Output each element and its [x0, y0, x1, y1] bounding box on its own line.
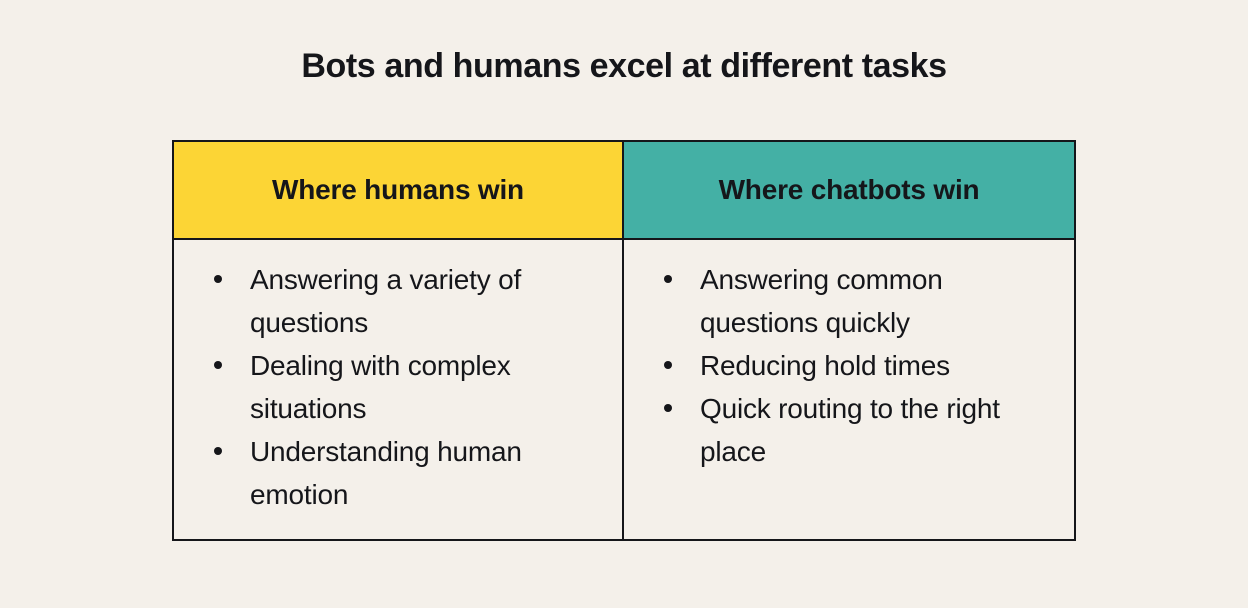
bullet-dot-icon — [214, 361, 222, 369]
list-item: Reducing hold times — [662, 344, 1058, 387]
list-item-label: Answering common questions quickly — [700, 264, 943, 338]
bullet-dot-icon — [664, 404, 672, 412]
column-header-chatbots: Where chatbots win — [624, 142, 1074, 238]
list-item-label: Dealing with complex situations — [250, 350, 511, 424]
bullet-dot-icon — [214, 275, 222, 283]
list-item: Understanding human emotion — [212, 430, 606, 516]
list-item: Dealing with complex situations — [212, 344, 606, 430]
list-item: Answering a variety of questions — [212, 258, 606, 344]
list-item-label: Answering a variety of questions — [250, 264, 521, 338]
column-body-humans: Answering a variety of questions Dealing… — [174, 240, 624, 539]
list-item: Answering common questions quickly — [662, 258, 1058, 344]
list-item-label: Quick routing to the right place — [700, 393, 1000, 467]
list-item: Quick routing to the right place — [662, 387, 1058, 473]
chatbots-bullet-list: Answering common questions quickly Reduc… — [662, 258, 1058, 473]
bullet-dot-icon — [214, 447, 222, 455]
column-header-chatbots-label: Where chatbots win — [719, 174, 980, 206]
infographic-page: Bots and humans excel at different tasks… — [0, 0, 1248, 608]
column-header-humans-label: Where humans win — [272, 174, 524, 206]
comparison-table: Where humans win Where chatbots win Answ… — [172, 140, 1076, 541]
column-header-humans: Where humans win — [174, 142, 624, 238]
table-body-row: Answering a variety of questions Dealing… — [174, 240, 1074, 539]
list-item-label: Understanding human emotion — [250, 436, 522, 510]
table-header-row: Where humans win Where chatbots win — [174, 142, 1074, 240]
bullet-dot-icon — [664, 275, 672, 283]
humans-bullet-list: Answering a variety of questions Dealing… — [212, 258, 606, 516]
bullet-dot-icon — [664, 361, 672, 369]
page-title: Bots and humans excel at different tasks — [0, 46, 1248, 87]
list-item-label: Reducing hold times — [700, 350, 950, 381]
column-body-chatbots: Answering common questions quickly Reduc… — [624, 240, 1074, 539]
